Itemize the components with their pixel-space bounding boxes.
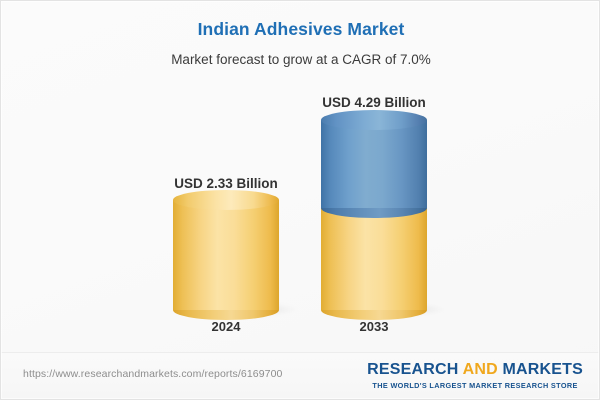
logo-tagline: THE WORLD'S LARGEST MARKET RESEARCH STOR… — [367, 381, 583, 390]
logo-wordmark: RESEARCH AND MARKETS — [367, 361, 583, 379]
bar-value-label: USD 2.33 Billion — [156, 176, 296, 191]
cylinder-top-ellipse — [321, 110, 427, 130]
logo-word-markets: MARKETS — [502, 361, 583, 378]
cylinder-2033[interactable] — [321, 120, 427, 310]
cylinder-top-ellipse — [173, 190, 279, 210]
category-label-2024: 2024 — [156, 319, 296, 334]
cylinder-2024[interactable] — [173, 200, 279, 310]
chart-card: Indian Adhesives Market Market forecast … — [0, 0, 600, 400]
logo-word-research: RESEARCH — [367, 361, 458, 378]
bar-segment-growth — [321, 120, 427, 208]
bar-segment-base — [321, 206, 427, 310]
bar-value-label: USD 4.29 Billion — [304, 95, 444, 110]
cylinder-body — [321, 206, 427, 310]
bar-segment-base — [173, 200, 279, 310]
cylinder-body — [321, 120, 427, 208]
cylinder-body — [173, 200, 279, 310]
category-label-2033: 2033 — [304, 319, 444, 334]
plot-area: USD 2.33 Billion 2024 USD 4.29 Billion — [1, 1, 600, 353]
research-and-markets-logo[interactable]: RESEARCH AND MARKETS THE WORLD'S LARGEST… — [367, 361, 583, 390]
chart-footer: https://www.researchandmarkets.com/repor… — [1, 352, 600, 399]
source-url[interactable]: https://www.researchandmarkets.com/repor… — [23, 368, 282, 380]
logo-word-and: AND — [459, 361, 503, 378]
